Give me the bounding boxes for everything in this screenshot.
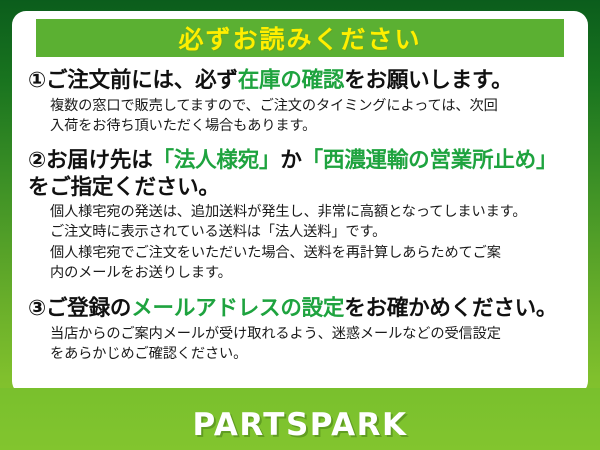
plain-phrase: をお願いします。 bbox=[344, 68, 512, 93]
notice-section-2: ②お届け先は「法人様宛」か「西濃運輸の営業所止め」 をご指定ください。 個人様宅… bbox=[28, 148, 572, 283]
highlighted-phrase: 「西濃運輸の営業所止め」 bbox=[302, 148, 558, 173]
section-3-heading: ③ご登録のメールアドレスの設定をお確かめください。 bbox=[28, 296, 572, 323]
page-title: 必ずお読みください bbox=[178, 20, 421, 56]
section-1-body: 複数の窓口で販売してますので、ご注文のタイミングによっては、次回 入荷をお待ち頂… bbox=[50, 96, 572, 136]
brand-logo: PARTSPARK bbox=[0, 407, 600, 443]
notice-card: 必ずお読みください ①ご注文前には、必ず在庫の確認をお願いします。 複数の窓口で… bbox=[12, 11, 588, 395]
plain-phrase: か bbox=[280, 148, 301, 173]
highlighted-phrase: 在庫の確認 bbox=[238, 68, 345, 93]
highlighted-phrase: メールアドレスの設定 bbox=[131, 296, 344, 321]
plain-phrase: ①ご注文前には、必ず bbox=[28, 68, 238, 93]
plain-phrase: をご指定ください。 bbox=[28, 175, 220, 200]
plain-phrase: をお確かめください。 bbox=[344, 296, 557, 321]
plain-phrase: ②お届け先は bbox=[28, 148, 153, 173]
section-2-body: 個人様宅宛の発送は、追加送料が発生し、非常に高額となってしまいます。 ご注文時に… bbox=[50, 202, 572, 283]
notice-banner: 必ずお読みください ①ご注文前には、必ず在庫の確認をお願いします。 複数の窓口で… bbox=[0, 0, 600, 450]
notice-sections: ①ご注文前には、必ず在庫の確認をお願いします。 複数の窓口で販売してますので、ご… bbox=[26, 57, 574, 364]
section-3-body: 当店からのご案内メールが受け取れるよう、迷惑メールなどの受信設定 をあらかじめご… bbox=[50, 324, 572, 364]
notice-section-1: ①ご注文前には、必ず在庫の確認をお願いします。 複数の窓口で販売してますので、ご… bbox=[28, 68, 572, 136]
title-bar: 必ずお読みください bbox=[36, 19, 564, 57]
highlighted-phrase: 「法人様宛」 bbox=[153, 148, 281, 173]
section-1-heading: ①ご注文前には、必ず在庫の確認をお願いします。 bbox=[28, 68, 572, 95]
plain-phrase: ③ご登録の bbox=[28, 296, 131, 321]
notice-section-3: ③ご登録のメールアドレスの設定をお確かめください。 当店からのご案内メールが受け… bbox=[28, 296, 572, 364]
section-2-heading: ②お届け先は「法人様宛」か「西濃運輸の営業所止め」 をご指定ください。 bbox=[28, 148, 572, 201]
